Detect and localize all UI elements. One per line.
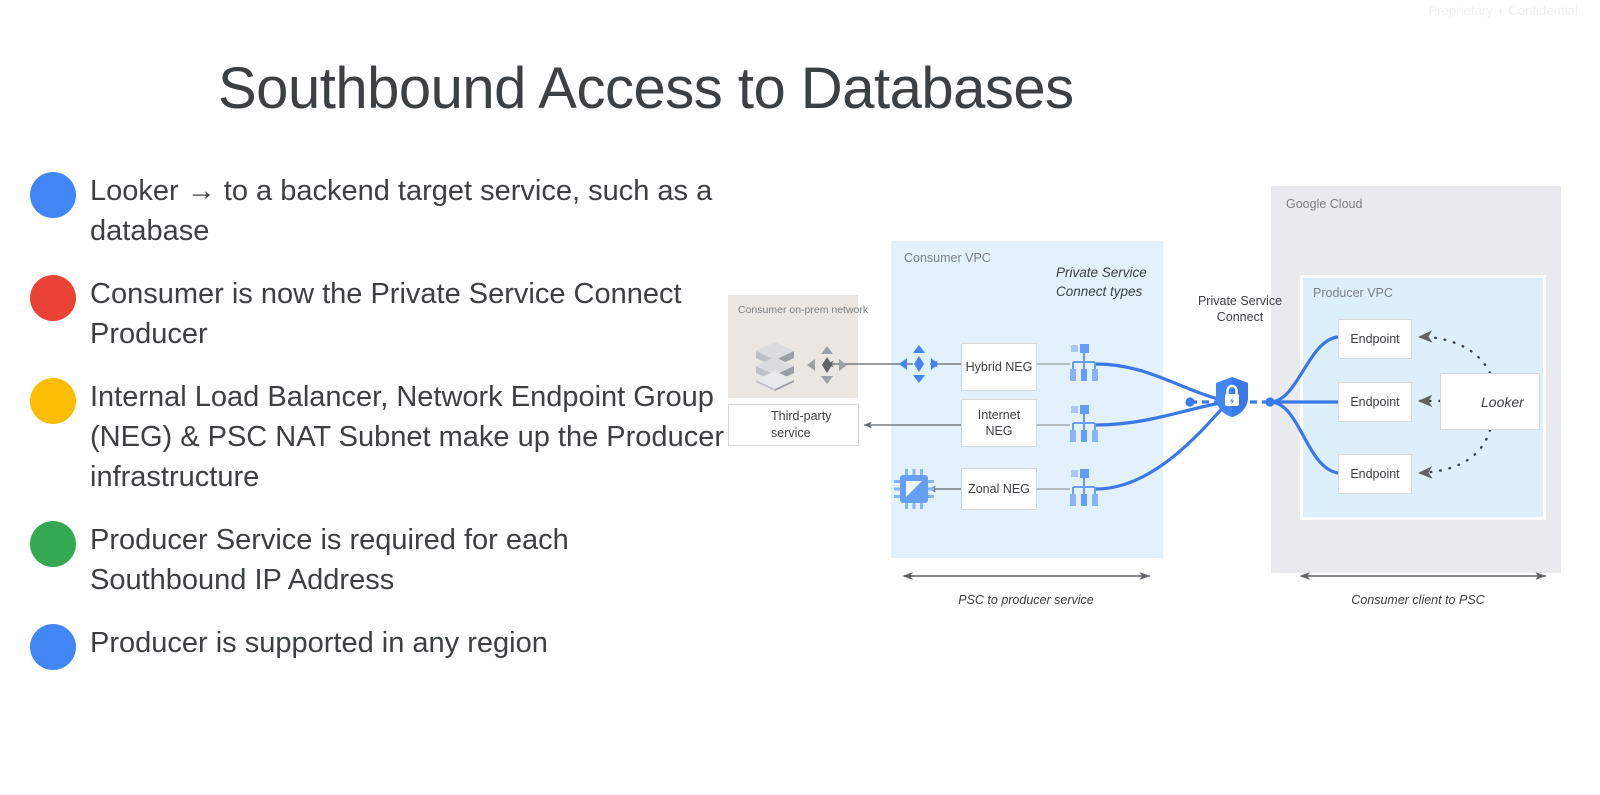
bullet-dot-blue [30,172,76,218]
bullet-text: Producer is supported in any region [90,622,548,663]
list-item: Looker → to a backend target service, su… [30,170,730,251]
load-balancer-icon [1070,405,1098,448]
bullet-text: Internal Load Balancer, Network Endpoint… [90,376,730,497]
internet-neg-label: Internet NEG [978,407,1020,439]
hybrid-neg-box[interactable]: Hybrid NEG [961,343,1037,391]
psc-node-label: Private Service Connect [1192,293,1288,325]
bullet-text: Consumer is now the Private Service Conn… [90,273,730,354]
bullet-text: Looker → to a backend target service, su… [90,170,730,251]
router-icon-vpc [898,344,940,389]
confidentiality-watermark: Proprietary + Confidential [1428,3,1578,18]
bullet-list: Looker → to a backend target service, su… [30,170,730,692]
looker-box[interactable]: Looker [1440,373,1540,430]
list-item: Producer is supported in any region [30,622,730,670]
internet-neg-box[interactable]: Internet NEG [961,399,1037,447]
page-title: Southbound Access to Databases [218,55,1074,122]
list-item: Consumer is now the Private Service Conn… [30,273,730,354]
load-balancer-icon [1070,469,1098,512]
load-balancer-icon [1070,344,1098,387]
zonal-neg-box[interactable]: Zonal NEG [961,468,1037,510]
caption-psc-to-producer: PSC to producer service [896,593,1156,607]
list-item: Internal Load Balancer, Network Endpoint… [30,376,730,497]
third-party-service-box[interactable]: Third-party service [728,404,859,446]
psc-types-label: Private Service Connect types [1056,263,1147,301]
third-party-service-label: Third-party service [771,408,831,442]
server-stack-icon [754,340,796,397]
bullet-dot-red [30,275,76,321]
list-item: Producer Service is required for each So… [30,519,730,600]
bullet-dot-green [30,521,76,567]
bullet-text: Producer Service is required for each So… [90,519,730,600]
endpoint-box-3[interactable]: Endpoint [1338,454,1412,494]
endpoint-box-2[interactable]: Endpoint [1338,382,1412,422]
router-icon [806,345,848,390]
endpoint-box-1[interactable]: Endpoint [1338,319,1412,359]
bullet-dot-yellow [30,378,76,424]
architecture-diagram: Consumer VPC Google Cloud Producer VPC C… [718,180,1578,630]
shield-lock-icon [1215,376,1249,423]
caption-consumer-to-psc: Consumer client to PSC [1288,593,1548,607]
chip-icon [894,469,934,514]
bullet-dot-blue-2 [30,624,76,670]
